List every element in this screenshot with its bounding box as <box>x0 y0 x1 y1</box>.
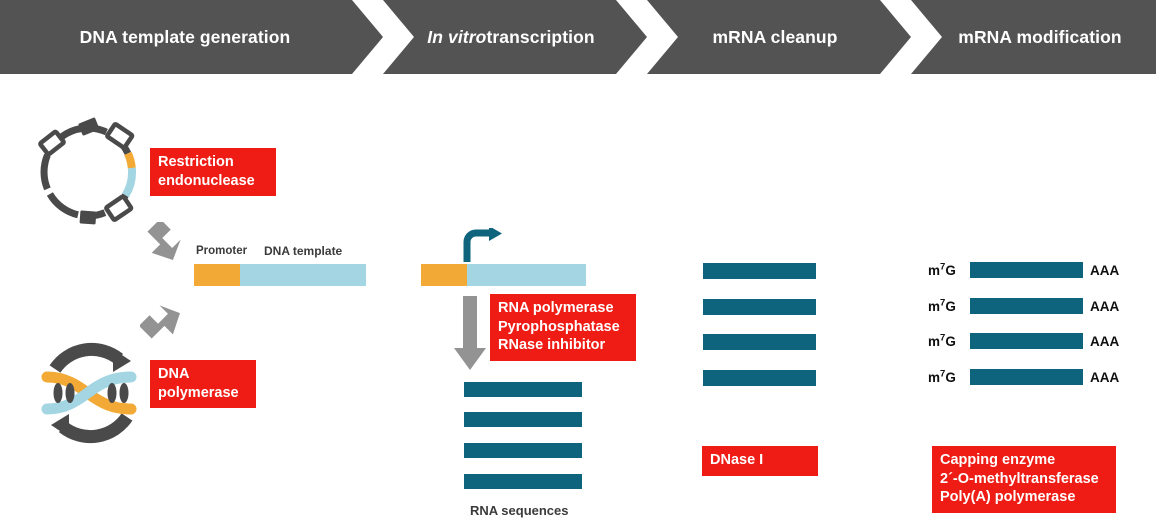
header-stage-label: DNA template generation <box>80 27 291 48</box>
plasmid-circle-icon <box>28 116 148 228</box>
dna-template-label: DNA template <box>264 244 342 258</box>
header-stage-dna-template-generation[interactable]: DNA template generation <box>0 0 370 74</box>
transcription-enzymes-label: RNA polymerase Pyrophosphatase RNase inh… <box>490 294 636 361</box>
poly-a-tail-label: AAA <box>1090 370 1119 385</box>
workflow-header-band: DNA template generation In vitro transcr… <box>0 0 1156 74</box>
dna-template-segment-transcription <box>467 264 586 286</box>
mrna-modified-bar <box>970 369 1083 385</box>
restriction-endonuclease-label: Restriction endonuclease <box>150 148 276 196</box>
poly-a-tail-label: AAA <box>1090 334 1119 349</box>
header-stage-mrna-cleanup[interactable]: mRNA cleanup <box>660 0 890 74</box>
poly-a-tail-label: AAA <box>1090 299 1119 314</box>
arrow-down-icon <box>453 296 487 372</box>
rna-sequence-bar <box>464 412 582 427</box>
header-stage-mrna-modification[interactable]: mRNA modification <box>924 0 1156 74</box>
rna-sequence-bar <box>464 382 582 397</box>
promoter-segment-transcription <box>421 264 467 286</box>
header-stage-label-italic: In vitro <box>427 27 486 48</box>
modification-enzymes-label: Capping enzyme 2´-O-methyltransferase Po… <box>932 446 1116 513</box>
dna-template-segment <box>240 264 366 286</box>
mrna-modified-bar <box>970 333 1083 349</box>
mrna-modified-bar <box>970 298 1083 314</box>
mrna-cleanup-bar <box>703 334 816 350</box>
poly-a-tail-label: AAA <box>1090 263 1119 278</box>
dnase-i-label: DNase I <box>702 446 818 476</box>
mrna-cap-label: m7G <box>928 263 956 278</box>
promoter-segment <box>194 264 240 286</box>
rna-sequences-caption: RNA sequences <box>470 503 569 518</box>
rna-sequence-bar <box>464 474 582 489</box>
mrna-cleanup-bar <box>703 370 816 386</box>
arrow-diagonal-down-right-icon <box>140 222 186 268</box>
rna-sequence-bar <box>464 443 582 458</box>
mrna-cleanup-bar <box>703 299 816 315</box>
mrna-modified-bar <box>970 262 1083 278</box>
header-stage-label: transcription <box>486 27 594 48</box>
mrna-cap-label: m7G <box>928 370 956 385</box>
dna-replication-icon <box>32 334 150 452</box>
promoter-label: Promoter <box>196 245 247 257</box>
mrna-cap-label: m7G <box>928 334 956 349</box>
header-stage-in-vitro-transcription[interactable]: In vitro transcription <box>396 0 626 74</box>
mrna-cleanup-bar <box>703 263 816 279</box>
dna-polymerase-label: DNA polymerase <box>150 360 256 408</box>
header-stage-label: mRNA modification <box>958 27 1121 48</box>
mrna-cap-label: m7G <box>928 299 956 314</box>
diagram-canvas: DNA template generation In vitro transcr… <box>0 0 1156 523</box>
header-stage-label: mRNA cleanup <box>712 27 837 48</box>
transcription-start-arrow-icon <box>462 228 506 264</box>
